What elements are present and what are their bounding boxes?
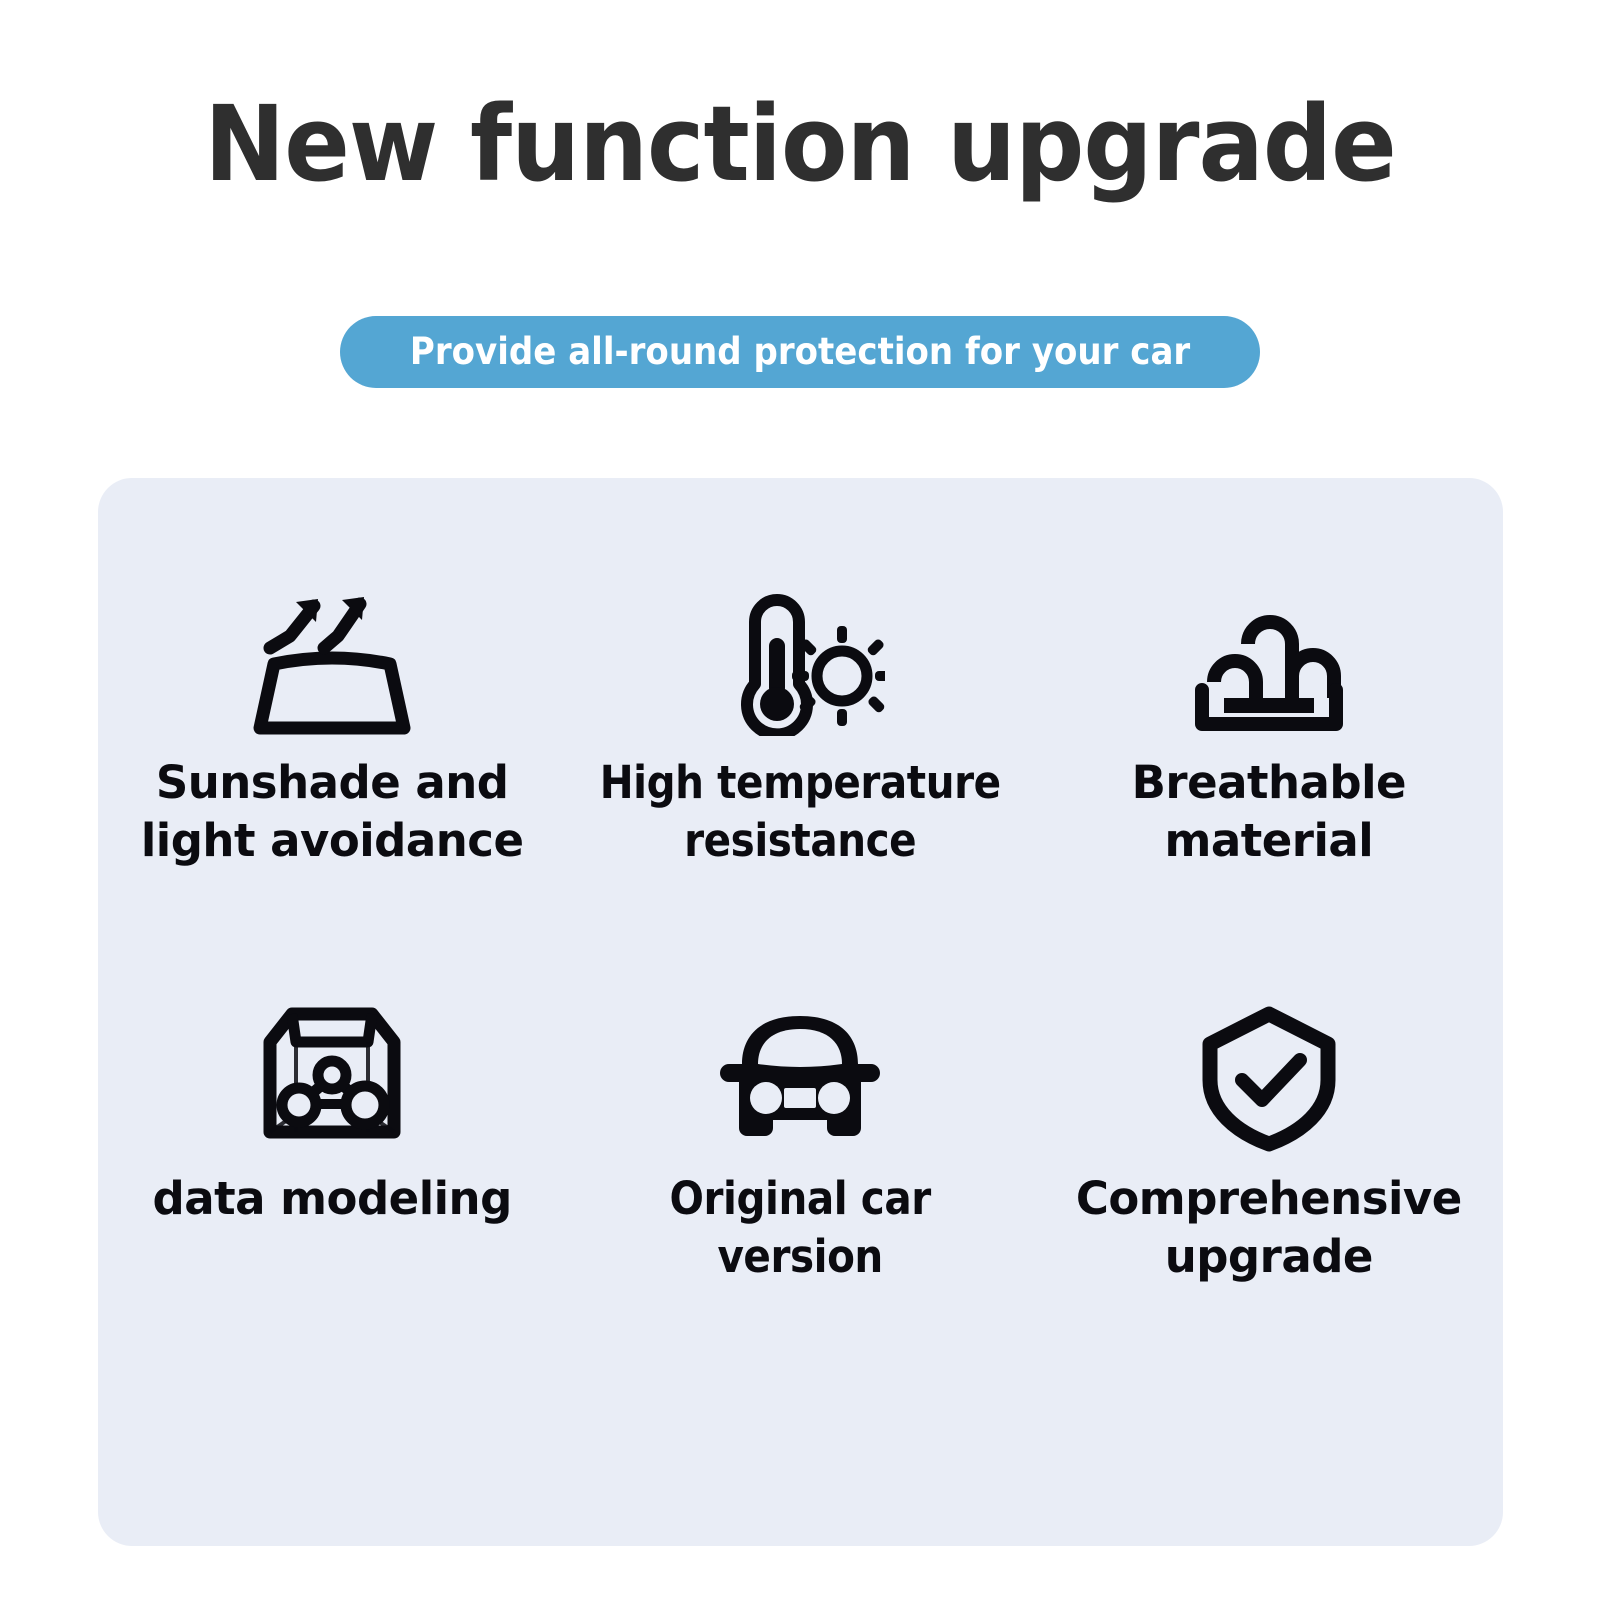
feature-item-breathable[interactable]: Breathable material bbox=[1035, 586, 1503, 870]
feature-card: Sunshade and light avoidance bbox=[98, 478, 1503, 1546]
feature-label: Sunshade and light avoidance bbox=[104, 754, 560, 870]
feature-row: data modeling Original car version bbox=[98, 870, 1503, 1286]
data-modeling-cube-icon bbox=[252, 1002, 412, 1152]
shield-check-icon bbox=[1194, 1002, 1344, 1152]
feature-label: Original car version bbox=[595, 1170, 1006, 1286]
feature-item-sunshade[interactable]: Sunshade and light avoidance bbox=[98, 586, 566, 870]
thermometer-sun-icon bbox=[715, 586, 885, 736]
breathable-airflow-icon bbox=[1184, 586, 1354, 736]
feature-label: Breathable material bbox=[1041, 754, 1497, 870]
feature-item-comprehensive-upgrade[interactable]: Comprehensive upgrade bbox=[1035, 1002, 1503, 1286]
feature-item-high-temperature[interactable]: High temperature resistance bbox=[566, 586, 1034, 870]
feature-row: Sunshade and light avoidance bbox=[98, 478, 1503, 870]
feature-label: High temperature resistance bbox=[595, 754, 1006, 870]
feature-item-data-modeling[interactable]: data modeling bbox=[98, 1002, 566, 1286]
banner-wrapper: Provide all-round protection for your ca… bbox=[0, 316, 1600, 388]
feature-item-original-car[interactable]: Original car version bbox=[566, 1002, 1034, 1286]
tagline-text: Provide all-round protection for your ca… bbox=[410, 332, 1190, 372]
feature-label: data modeling bbox=[153, 1170, 512, 1228]
page-title: New function upgrade bbox=[56, 84, 1544, 204]
car-front-icon bbox=[711, 1002, 889, 1152]
feature-label: Comprehensive upgrade bbox=[1041, 1170, 1497, 1286]
sunshade-windshield-icon bbox=[234, 586, 430, 736]
tagline-banner: Provide all-round protection for your ca… bbox=[340, 316, 1260, 388]
